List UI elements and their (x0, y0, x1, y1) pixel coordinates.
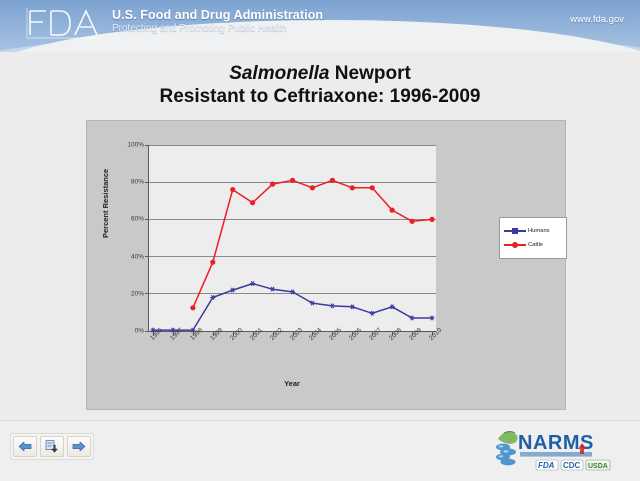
slide-viewer: U.S. Food and Drug Administration Protec… (0, 0, 640, 480)
data-point-humans (350, 305, 355, 310)
y-axis-tick-label: 60% (110, 216, 144, 223)
fda-header-titles: U.S. Food and Drug Administration Protec… (112, 8, 323, 35)
data-point-cattle (270, 182, 275, 187)
slide-navigation (10, 433, 94, 460)
serotype-name: Newport (330, 63, 411, 84)
data-point-cattle (350, 185, 355, 190)
narms-emblem (496, 432, 518, 466)
data-point-cattle (210, 260, 215, 265)
data-point-humans (429, 316, 434, 321)
slide-footer: NARMS FDA CDC USDA (0, 420, 640, 481)
data-point-cattle (390, 208, 395, 213)
next-slide-button[interactable] (67, 436, 91, 457)
chart-plot-container: Percent Resistance Year 0%20%40%60%80%10… (87, 121, 565, 409)
data-point-humans (270, 287, 275, 292)
data-point-cattle (190, 305, 195, 310)
page-title: Salmonella Newport Resistant to Ceftriax… (0, 62, 640, 108)
legend-swatch-cattle (504, 240, 526, 250)
series-layer (149, 145, 436, 331)
arrow-right-icon (72, 441, 86, 452)
page-title-line2: Resistant to Ceftriaxone: 1996-2009 (0, 85, 640, 108)
fda-header-title: U.S. Food and Drug Administration (112, 8, 323, 22)
chart-panel: Percent Resistance Year 0%20%40%60%80%10… (86, 120, 566, 410)
svg-text:FDA: FDA (538, 461, 555, 470)
download-icon (45, 440, 59, 453)
data-point-cattle (429, 217, 434, 222)
page-title-line1: Salmonella Newport (0, 62, 640, 85)
y-axis-tick-label: 100% (110, 142, 144, 149)
data-point-cattle (250, 200, 255, 205)
data-point-humans (230, 288, 235, 293)
svg-text:USDA: USDA (588, 463, 608, 470)
data-point-cattle (410, 219, 415, 224)
y-axis-tick-label: 80% (110, 179, 144, 186)
data-point-cattle (370, 185, 375, 190)
data-point-cattle (330, 178, 335, 183)
x-axis-title: Year (87, 379, 497, 388)
data-point-humans (370, 311, 375, 316)
fda-header-url[interactable]: www.fda.gov (570, 14, 624, 25)
arrow-left-icon (18, 441, 32, 452)
fda-site-header: U.S. Food and Drug Administration Protec… (0, 0, 640, 52)
narms-logo: NARMS FDA CDC USDA (494, 427, 622, 475)
y-axis-tick-label: 20% (110, 290, 144, 297)
previous-slide-button[interactable] (13, 436, 37, 457)
fda-logo-icon (26, 6, 102, 40)
data-point-cattle (310, 185, 315, 190)
series-line-cattle (193, 180, 432, 307)
legend-label-cattle: Cattle (528, 242, 543, 248)
data-point-humans (250, 281, 255, 286)
y-axis-tick-label: 0% (110, 328, 144, 335)
legend-item-humans: Humans (504, 225, 562, 237)
data-point-cattle (230, 187, 235, 192)
y-axis-title: Percent Resistance (101, 169, 110, 238)
plot-area: 0%20%40%60%80%100% 199619971998199920002… (148, 145, 436, 332)
legend-label-humans: Humans (528, 228, 550, 234)
legend-swatch-humans (504, 226, 526, 236)
download-button[interactable] (40, 436, 64, 457)
svg-text:CDC: CDC (563, 461, 581, 470)
data-point-cattle (290, 178, 295, 183)
fda-header-subtitle: Protecting and Promoting Public Health (112, 22, 323, 35)
data-point-humans (330, 304, 335, 309)
chart-legend: Humans Cattle (499, 217, 567, 259)
organism-name: Salmonella (229, 63, 329, 84)
legend-item-cattle: Cattle (504, 239, 562, 251)
y-axis-tick-label: 40% (110, 253, 144, 260)
slide-content: Salmonella Newport Resistant to Ceftriax… (0, 52, 640, 420)
